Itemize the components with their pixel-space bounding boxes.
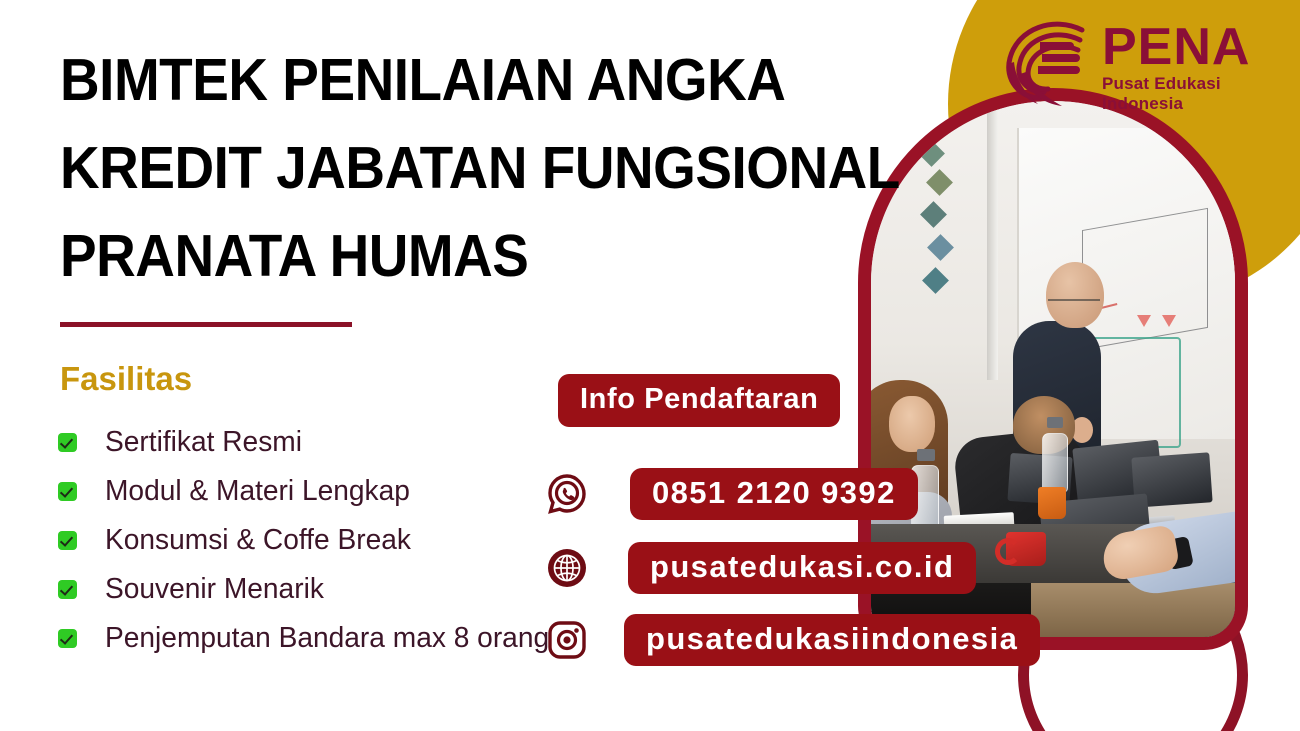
list-item: Modul & Materi Lengkap [58,467,563,516]
pena-logo: PENA Pusat Edukasi Indonesia [996,14,1300,114]
photo-red-mug [1006,532,1046,566]
checkbox-checked-icon [58,433,77,452]
title-line-1: BIMTEK PENILAIAN ANGKA [60,36,804,124]
logo-wordmark: PENA Pusat Edukasi Indonesia [1102,14,1300,114]
logo-name: PENA [1102,22,1300,72]
list-item: Penjemputan Bandara max 8 orang [58,614,563,663]
list-item: Souvenir Menarik [58,565,563,614]
photo-whiteboard-sketch [1082,208,1208,350]
instagram-icon[interactable] [546,619,588,661]
facility-label: Souvenir Menarik [105,573,324,606]
instagram-handle-badge[interactable]: pusatedukasiindonesia [624,614,1040,666]
list-item: Konsumsi & Coffe Break [58,516,563,565]
title-divider [60,322,352,327]
logo-tagline: Pusat Edukasi Indonesia [1102,74,1300,114]
website-badge[interactable]: pusatedukasi.co.id [628,542,976,594]
title-line-2: KREDIT JABATAN FUNGSIONAL [60,124,804,212]
photo-presenter-head [1046,262,1104,328]
list-item: Sertifikat Resmi [58,418,563,467]
info-pendaftaran-badge: Info Pendaftaran [558,374,840,427]
contact-row-whatsapp[interactable]: 0851 2120 9392 [546,468,918,520]
photo-woman-face [889,396,935,452]
promo-banner: PENA Pusat Edukasi Indonesia BIMTEK PENI… [0,0,1300,731]
facilities-heading: Fasilitas [60,360,192,398]
whatsapp-number-badge[interactable]: 0851 2120 9392 [630,468,918,520]
page-title: BIMTEK PENILAIAN ANGKA KREDIT JABATAN FU… [60,36,860,300]
photo-whiteboard-triangle [1162,315,1176,327]
facility-label: Sertifikat Resmi [105,426,302,459]
photo-presenter-glasses [1048,299,1100,312]
checkbox-checked-icon [58,482,77,501]
contact-row-instagram[interactable]: pusatedukasiindonesia [546,614,1040,666]
photo-whiteboard-triangle [1137,315,1151,327]
facility-label: Penjemputan Bandara max 8 orang [105,622,549,655]
globe-icon[interactable] [546,547,588,589]
feather-quill-icon [996,14,1100,110]
photo-glass-door [987,101,998,380]
photo-water-bottle [1042,433,1068,493]
checkbox-checked-icon [58,531,77,550]
photo-hanging-mobile [918,112,958,316]
facility-label: Modul & Materi Lengkap [105,475,410,508]
photo-bottle-cap [917,449,935,461]
photo-floor [1031,583,1235,637]
photo-bottle-cap [1047,417,1063,428]
checkbox-checked-icon [58,580,77,599]
photo-orange-cup [1038,487,1066,519]
facilities-list: Sertifikat Resmi Modul & Materi Lengkap … [58,418,563,663]
title-line-3: PRANATA HUMAS [60,212,804,300]
contact-row-website[interactable]: pusatedukasi.co.id [546,542,976,594]
facility-label: Konsumsi & Coffe Break [105,524,411,557]
checkbox-checked-icon [58,629,77,648]
whatsapp-icon[interactable] [546,473,588,515]
